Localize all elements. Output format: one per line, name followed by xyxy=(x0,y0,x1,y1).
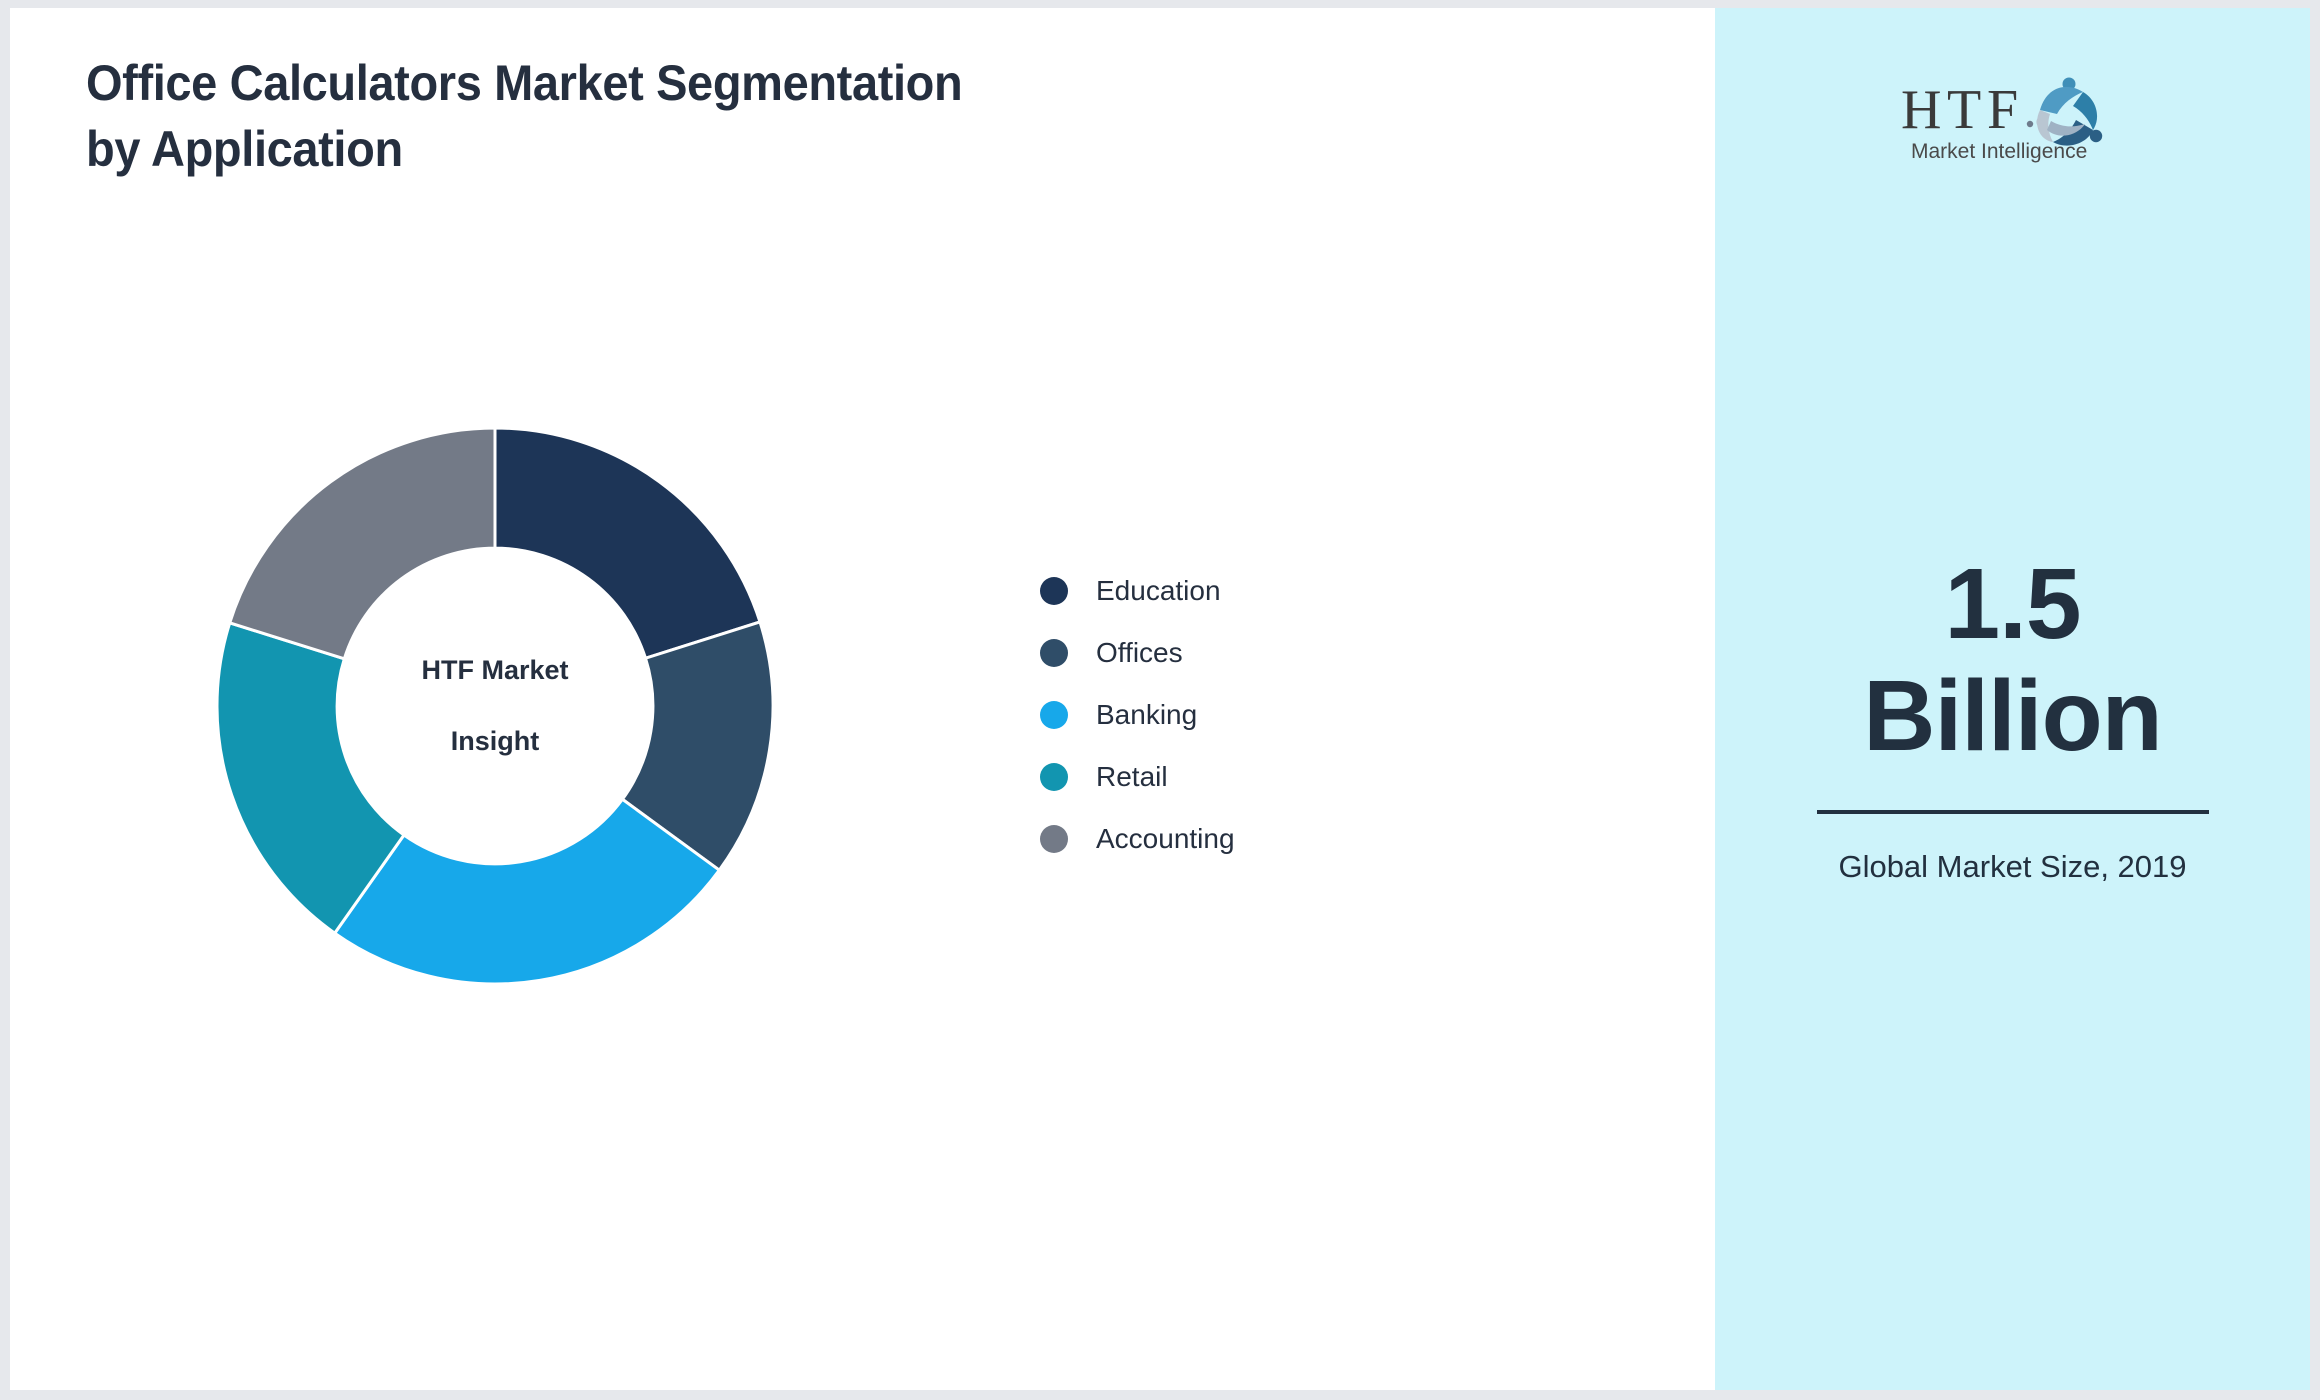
legend-swatch-icon xyxy=(1040,825,1068,853)
stat-value: 1.5 Billion xyxy=(1778,548,2248,772)
legend-item[interactable]: Banking xyxy=(1040,684,1235,746)
chart-panel: Office Calculators Market Segmentation b… xyxy=(10,8,1715,1390)
legend-item[interactable]: Education xyxy=(1040,560,1235,622)
htf-market-intelligence-logo: H T F Market Intelligence xyxy=(1897,70,2129,164)
page-title: Office Calculators Market Segmentation b… xyxy=(86,50,1026,182)
legend-item-label: Education xyxy=(1096,575,1221,607)
stat-value-line-2: Billion xyxy=(1778,660,2248,772)
svg-text:F: F xyxy=(1987,79,2019,141)
stat-caption: Global Market Size, 2019 xyxy=(1778,846,2248,888)
donut-slice-accounting[interactable] xyxy=(230,428,495,659)
legend-swatch-icon xyxy=(1040,763,1068,791)
legend-swatch-icon xyxy=(1040,639,1068,667)
people-swirl-icon xyxy=(2036,78,2102,146)
legend-swatch-icon xyxy=(1040,701,1068,729)
stat-panel: H T F Market Intelligence xyxy=(1715,8,2310,1390)
chart-legend: EducationOfficesBankingRetailAccounting xyxy=(1040,560,1235,870)
svg-text:H: H xyxy=(1901,79,1942,141)
donut-chart: HTF Market Insight xyxy=(205,416,785,996)
svg-text:T: T xyxy=(1947,79,1982,141)
stat-value-line-1: 1.5 xyxy=(1778,548,2248,660)
legend-item-label: Offices xyxy=(1096,637,1183,669)
donut-slice-group xyxy=(217,428,773,984)
donut-slice-education[interactable] xyxy=(495,428,760,658)
global-market-size-block: 1.5 Billion Global Market Size, 2019 xyxy=(1778,548,2248,888)
infographic-card: Office Calculators Market Segmentation b… xyxy=(10,8,2310,1390)
legend-item[interactable]: Retail xyxy=(1040,746,1235,808)
legend-item-label: Accounting xyxy=(1096,823,1235,855)
stat-divider xyxy=(1817,810,2209,814)
legend-item[interactable]: Accounting xyxy=(1040,808,1235,870)
legend-item-label: Retail xyxy=(1096,761,1168,793)
legend-item-label: Banking xyxy=(1096,699,1197,731)
legend-item[interactable]: Offices xyxy=(1040,622,1235,684)
legend-swatch-icon xyxy=(1040,577,1068,605)
logo-svg: H T F Market Intelligence xyxy=(1897,70,2129,164)
logo-tagline: Market Intelligence xyxy=(1911,140,2087,163)
donut-chart-svg xyxy=(205,416,785,996)
